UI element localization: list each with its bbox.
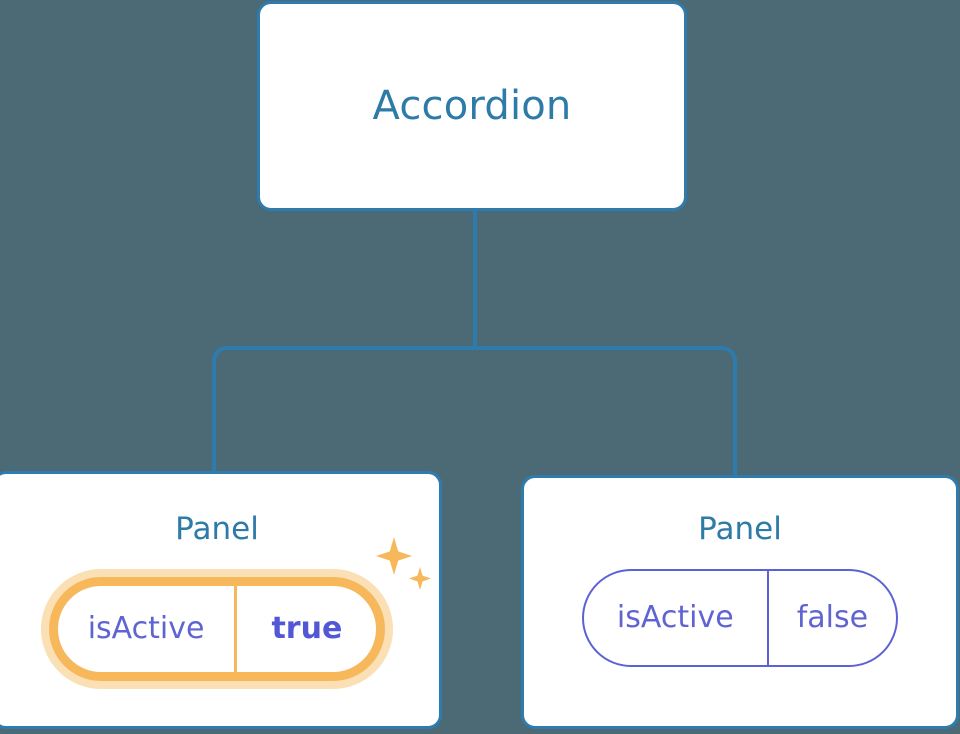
- sparkle-large-icon: [376, 537, 412, 575]
- prop-key: isActive: [58, 586, 238, 672]
- node-panel-left[interactable]: Panel isActive true: [0, 471, 442, 729]
- connector-to-right-panel: [475, 348, 735, 476]
- prop-pill-isactive-true[interactable]: isActive true: [49, 577, 386, 681]
- node-accordion[interactable]: Accordion: [257, 1, 687, 211]
- diagram-canvas: Accordion Panel isActive true Panel isAc…: [0, 0, 960, 734]
- prop-pill-wrapper-right: isActive false: [582, 569, 898, 667]
- prop-value: true: [237, 586, 376, 672]
- prop-pill-wrapper-left: isActive true: [41, 569, 394, 689]
- sparkle-small-icon: [409, 567, 431, 590]
- prop-pill-highlight-glow: isActive true: [41, 569, 394, 689]
- prop-key: isActive: [584, 571, 769, 665]
- node-panel-left-title: Panel: [175, 514, 259, 545]
- prop-pill-isactive-false[interactable]: isActive false: [582, 569, 898, 667]
- prop-value: false: [769, 571, 896, 665]
- node-accordion-title: Accordion: [373, 86, 572, 126]
- connector-to-left-panel: [214, 348, 475, 472]
- node-panel-right[interactable]: Panel isActive false: [521, 475, 959, 729]
- node-panel-right-title: Panel: [698, 514, 782, 545]
